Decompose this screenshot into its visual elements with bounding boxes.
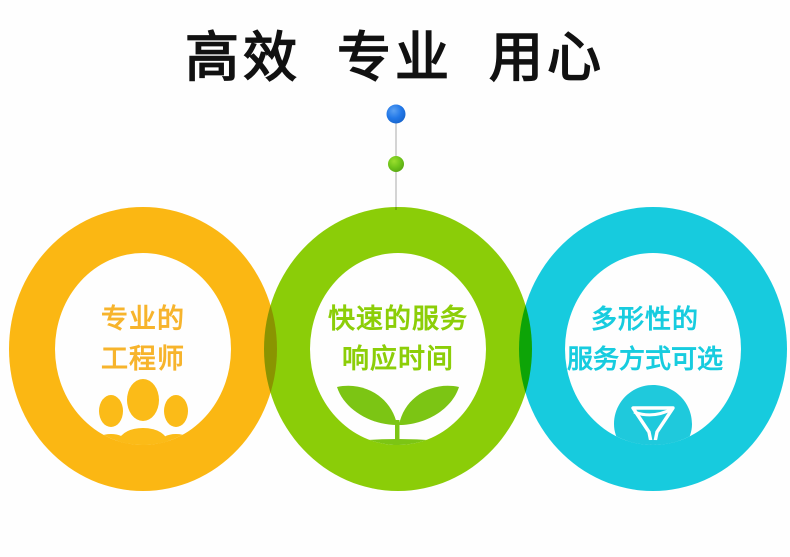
circle-label-orange-line-1: 专业的 — [18, 300, 268, 340]
circle-label-green: 快速的服务 响应时间 — [273, 300, 523, 380]
circle-label-cyan-line-1: 多形性的 — [520, 300, 770, 340]
venn-rings-group — [0, 0, 790, 557]
circle-label-orange: 专业的 工程师 — [18, 300, 268, 380]
circle-label-green-line-2: 响应时间 — [273, 340, 523, 380]
infographic-canvas: 高效专业用心 — [0, 0, 790, 557]
circle-label-green-line-1: 快速的服务 — [273, 300, 523, 340]
ring-cyan[interactable] — [0, 0, 790, 557]
circle-label-cyan-line-2: 服务方式可选 — [520, 340, 770, 380]
circle-label-orange-line-2: 工程师 — [18, 340, 268, 380]
circle-label-cyan: 多形性的 服务方式可选 — [520, 300, 770, 380]
